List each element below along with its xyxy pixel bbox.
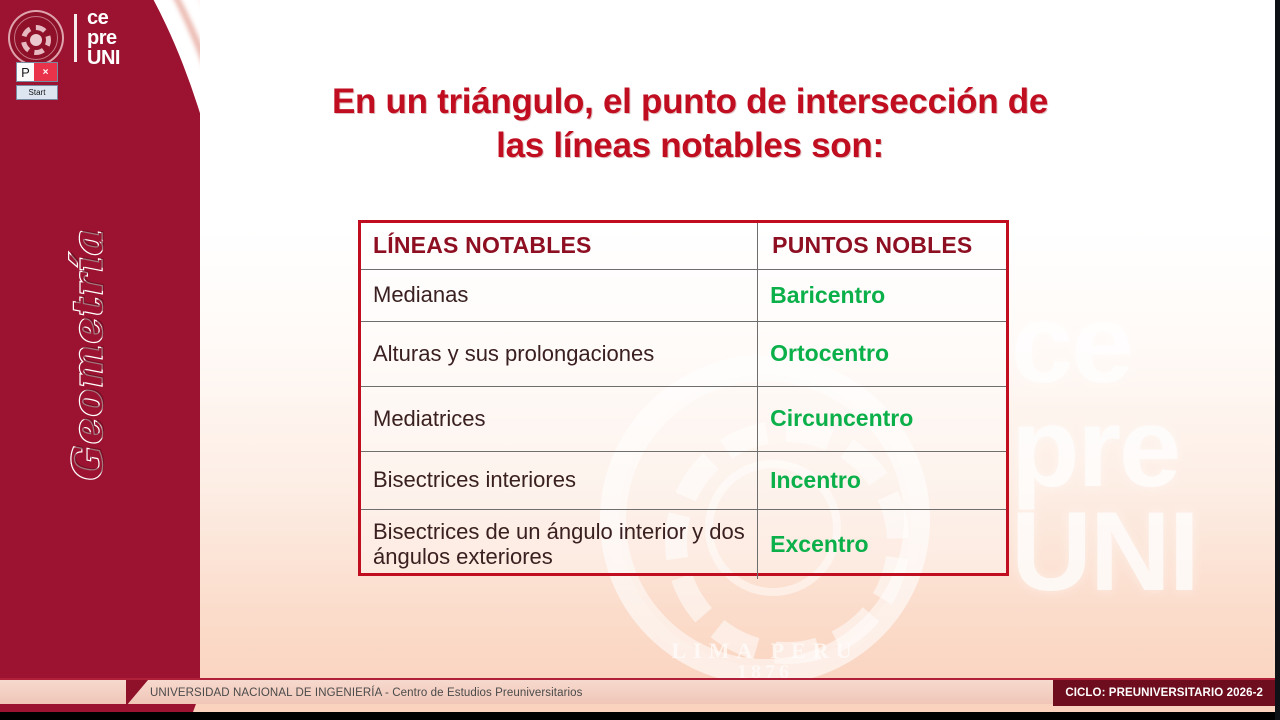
cell-line-name: Bisectrices interiores: [361, 451, 758, 509]
widget-top-row[interactable]: P ×: [16, 62, 58, 82]
table-row: Bisectrices de un ángulo interior y dos …: [361, 509, 1006, 579]
slide-background: ce pre UNI LIMA PERU 1876 ce pre UNI: [0, 0, 1275, 712]
uni-seal-icon: [8, 10, 64, 66]
widget-p-label: P: [17, 63, 34, 81]
cepreuni-logo: ce pre UNI: [8, 6, 148, 70]
footer-cycle-badge: CICLO: PREUNIVERSITARIO 2026-2: [1053, 680, 1275, 706]
logo-line-ce: ce: [87, 8, 120, 28]
title-line-2: las líneas notables son:: [210, 124, 1170, 168]
cell-point-name: Baricentro: [758, 269, 1006, 321]
table-row: Medianas Baricentro: [361, 269, 1006, 321]
gear-icon: [21, 25, 51, 55]
watermark-line-ce: ce: [1011, 292, 1261, 396]
table-header-row: LÍNEAS NOTABLES PUNTOS NOBLES: [361, 223, 1006, 269]
logo-line-uni: UNI: [87, 48, 120, 68]
footer-institution: UNIVERSIDAD NACIONAL DE INGENIERÍA - Cen…: [150, 680, 583, 706]
table-row: Mediatrices Circuncentro: [361, 386, 1006, 451]
subject-label-geometria: Geometría: [65, 204, 112, 504]
table-row: Alturas y sus prolongaciones Ortocentro: [361, 321, 1006, 386]
watermark-line-uni: UNI: [1011, 500, 1261, 604]
column-header-puntos: PUNTOS NOBLES: [758, 223, 1006, 269]
logo-line-pre: pre: [87, 28, 120, 48]
cell-line-name: Bisectrices de un ángulo interior y dos …: [361, 509, 758, 579]
seal-motto-text: LIMA PERU: [607, 638, 923, 664]
title-line-1: En un triángulo, el punto de intersecció…: [210, 80, 1170, 124]
cell-line-name: Alturas y sus prolongaciones: [361, 321, 758, 386]
cepreuni-watermark: ce pre UNI: [1011, 292, 1261, 604]
cell-point-name: Circuncentro: [758, 386, 1006, 451]
floating-control-widget[interactable]: P × Start: [16, 62, 58, 100]
cell-line-name: Mediatrices: [361, 386, 758, 451]
cell-point-name: Excentro: [758, 509, 1006, 579]
slide-footer: UNIVERSIDAD NACIONAL DE INGENIERÍA - Cen…: [0, 678, 1275, 704]
cell-line-name: Medianas: [361, 269, 758, 321]
close-icon[interactable]: ×: [34, 63, 57, 81]
start-button[interactable]: Start: [16, 85, 58, 100]
left-sidebar: [0, 0, 200, 712]
watermark-line-pre: pre: [1011, 396, 1261, 500]
page-title: En un triángulo, el punto de intersecció…: [210, 80, 1170, 168]
column-header-lineas: LÍNEAS NOTABLES: [361, 223, 758, 269]
right-black-bar: [1275, 0, 1280, 720]
bottom-black-bar: [0, 712, 1280, 720]
cell-point-name: Ortocentro: [758, 321, 1006, 386]
cell-point-name: Incentro: [758, 451, 1006, 509]
logo-text: ce pre UNI: [87, 8, 120, 68]
logo-divider: [74, 14, 77, 62]
footer-wedge: [126, 680, 148, 706]
notable-lines-table: LÍNEAS NOTABLES PUNTOS NOBLES Medianas B…: [358, 220, 1009, 576]
sidebar-arc-stripe-outer: [0, 0, 200, 712]
sidebar-arc-stripe: [0, 0, 200, 712]
sidebar-fill: [0, 0, 200, 712]
presentation-slide: ce pre UNI LIMA PERU 1876 ce pre UNI: [0, 0, 1280, 720]
table-row: Bisectrices interiores Incentro: [361, 451, 1006, 509]
